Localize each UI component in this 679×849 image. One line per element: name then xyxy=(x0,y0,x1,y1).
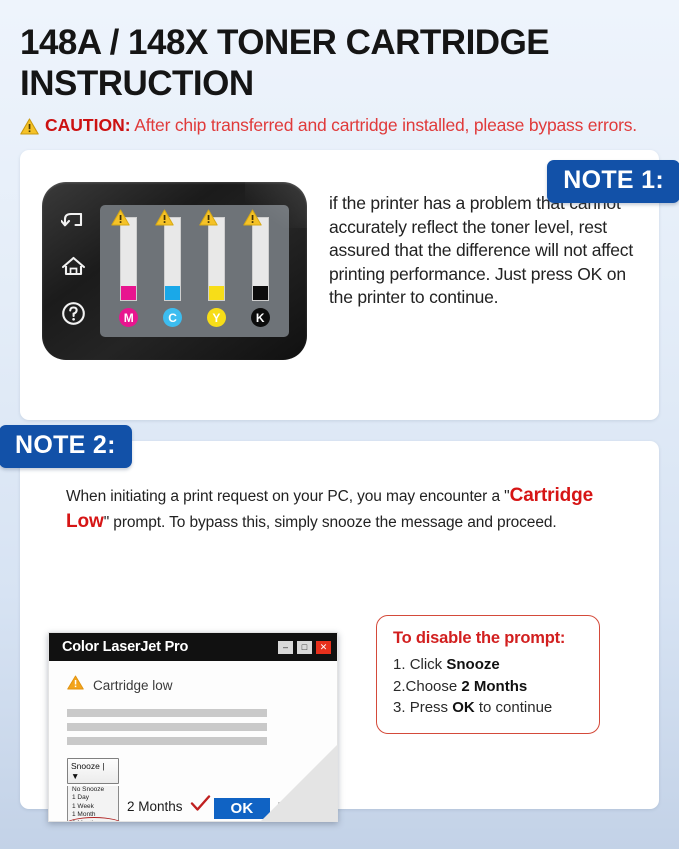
placeholder-line xyxy=(67,709,267,717)
printer-screen: M C xyxy=(100,205,289,337)
caution-label: CAUTION: xyxy=(45,115,131,135)
callout-title: To disable the prompt: xyxy=(393,629,583,648)
caution-banner: CAUTION: After chip transferred and cart… xyxy=(20,115,659,140)
note2-card: NOTE 2: When initiating a print request … xyxy=(20,441,659,809)
help-question-icon[interactable] xyxy=(61,301,86,331)
toner-bar xyxy=(252,217,269,301)
note2-body-part1: When initiating a print request on your … xyxy=(66,488,510,505)
close-icon[interactable]: ✕ xyxy=(316,641,331,654)
selected-option-annotation: 2 Months xyxy=(127,795,211,817)
toner-label: C xyxy=(163,308,182,327)
toner-bar xyxy=(120,217,137,301)
caution-body: After chip transferred and cartridge ins… xyxy=(131,115,637,135)
selected-option-label: 2 Months xyxy=(127,799,183,814)
toner-gauge-magenta: M xyxy=(114,217,144,327)
toner-fill xyxy=(209,286,224,300)
step-emphasis: 2 Months xyxy=(461,678,527,695)
dialog-placeholder-lines xyxy=(67,709,321,745)
dropdown-options: No Snooze 1 Day 1 Week 1 Month 2 Months xyxy=(68,786,118,822)
note1-card: NOTE 1: xyxy=(20,150,659,420)
step-emphasis: Snooze xyxy=(446,656,499,673)
dialog-alert-text: Cartridge low xyxy=(93,678,173,693)
minimize-icon[interactable]: – xyxy=(278,641,293,654)
toner-label: K xyxy=(251,308,270,327)
dialog-body: Cartridge low Snooze | ▼ No Snooze 1 Day… xyxy=(49,661,337,822)
step-tail: to continue xyxy=(475,699,553,716)
toner-label: M xyxy=(119,308,138,327)
note1-text: if the printer has a problem that cannot… xyxy=(307,182,637,360)
printer-illustration: M C xyxy=(42,182,307,360)
toner-gauge-cyan: C xyxy=(158,217,188,327)
printer-dialog-mock: Color LaserJet Pro – □ ✕ xyxy=(48,632,338,822)
instruction-page: 148A / 148X TONER CARTRIDGE INSTRUCTION … xyxy=(0,0,679,849)
toner-gauge-black: K xyxy=(245,217,275,327)
ok-button[interactable]: OK xyxy=(214,798,270,819)
home-icon[interactable] xyxy=(61,255,86,282)
callout-step-1: 1. Click Snooze xyxy=(393,654,583,676)
placeholder-line xyxy=(67,723,267,731)
snooze-dropdown-list[interactable]: No Snooze 1 Day 1 Week 1 Month 2 Months xyxy=(67,786,119,822)
step-text: Choose xyxy=(406,678,462,695)
warning-triangle-icon xyxy=(243,209,262,231)
page-title: 148A / 148X TONER CARTRIDGE INSTRUCTION xyxy=(20,0,659,104)
dropdown-option-no-snooze[interactable]: No Snooze xyxy=(68,786,118,794)
back-arrow-icon[interactable] xyxy=(61,211,86,236)
dropdown-option-1-week[interactable]: 1 Week xyxy=(68,803,118,811)
dialog-alert-row: Cartridge low xyxy=(67,675,321,695)
secondary-button-placeholder[interactable] xyxy=(278,802,318,816)
note1-badge: NOTE 1: xyxy=(547,160,679,203)
maximize-icon[interactable]: □ xyxy=(297,641,312,654)
dialog-window: Color LaserJet Pro – □ ✕ xyxy=(48,632,338,822)
toner-fill xyxy=(121,286,136,300)
dialog-titlebar: Color LaserJet Pro – □ ✕ xyxy=(49,633,337,661)
placeholder-line xyxy=(67,737,267,745)
step-text: Press xyxy=(410,699,453,716)
step-number: 3. xyxy=(393,699,410,716)
dropdown-option-2-months[interactable]: 2 Months xyxy=(68,820,118,822)
callout-step-3: 3. Press OK to continue xyxy=(393,697,583,719)
warning-triangle-icon xyxy=(67,675,84,695)
red-check-icon xyxy=(190,795,211,817)
step-emphasis: OK xyxy=(452,699,475,716)
toner-bar xyxy=(208,217,225,301)
dialog-button-row: OK xyxy=(214,798,318,819)
note2-body-part2: " prompt. To bypass this, simply snooze … xyxy=(104,514,557,531)
printer-keypad xyxy=(42,182,100,360)
warning-triangle-icon xyxy=(199,209,218,231)
toner-bar xyxy=(164,217,181,301)
warning-triangle-icon xyxy=(155,209,174,231)
toner-fill xyxy=(165,286,180,300)
step-text: Click xyxy=(410,656,447,673)
snooze-dropdown-button[interactable]: Snooze | ▼ xyxy=(67,758,119,784)
note2-badge: NOTE 2: xyxy=(0,425,132,468)
dialog-title: Color LaserJet Pro xyxy=(62,639,274,655)
warning-triangle-icon xyxy=(20,118,39,140)
toner-label: Y xyxy=(207,308,226,327)
toner-gauge-yellow: Y xyxy=(201,217,231,327)
dropdown-option-1-month[interactable]: 1 Month xyxy=(68,811,118,819)
callout-step-2: 2.Choose 2 Months xyxy=(393,676,583,698)
step-number: 2. xyxy=(393,678,406,695)
caution-text: CAUTION: After chip transferred and cart… xyxy=(45,115,637,135)
disable-prompt-callout: To disable the prompt: 1. Click Snooze 2… xyxy=(376,615,600,734)
dropdown-option-1-day[interactable]: 1 Day xyxy=(68,794,118,802)
step-number: 1. xyxy=(393,656,410,673)
toner-fill xyxy=(253,286,268,300)
warning-triangle-icon xyxy=(111,209,130,231)
